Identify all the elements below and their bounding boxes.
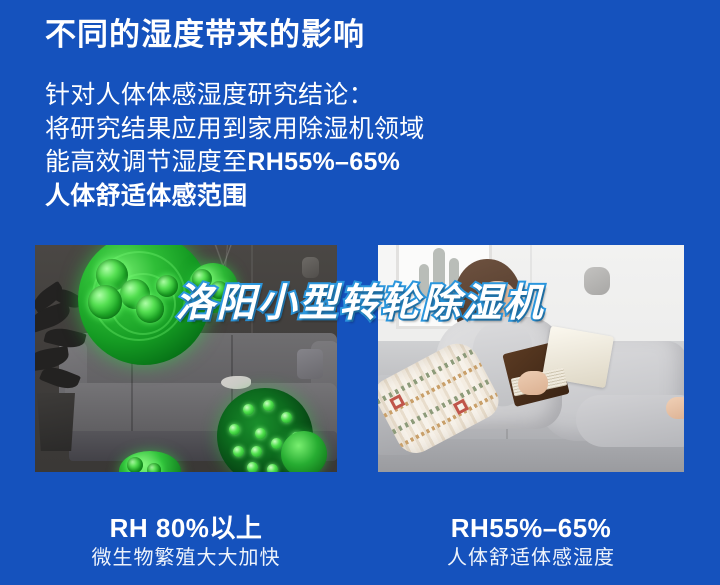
photo-right-comfort-humidity xyxy=(378,245,684,472)
caption-left: RH 80%以上 微生物繁殖大大加快 xyxy=(35,512,337,572)
bird-ornament xyxy=(221,376,251,389)
intro-line-1: 针对人体体感湿度研究结论： xyxy=(45,79,515,113)
woman-hand xyxy=(518,371,548,395)
woman-foot xyxy=(666,397,684,419)
light-room-background xyxy=(378,245,684,472)
caption-left-subtitle: 微生物繁殖大大加快 xyxy=(35,544,337,572)
intro-line-3-normal: 能高效调节湿度至 xyxy=(45,148,247,176)
plant-pot xyxy=(37,393,75,451)
cactus-stem xyxy=(433,248,445,306)
caption-right-subtitle: 人体舒适体感湿度 xyxy=(378,544,684,572)
intro-line-4: 人体舒适体感范围 xyxy=(45,180,515,214)
microbe-sphere-corner xyxy=(281,431,327,472)
intro-line-3-highlight: RH55%–65% xyxy=(247,148,400,176)
page-title: 不同的湿度带来的影响 xyxy=(45,14,365,56)
dark-room-background xyxy=(35,245,337,472)
wall-knob-icon xyxy=(584,267,610,295)
photo-left-high-humidity xyxy=(35,245,337,472)
microbe-cluster-small xyxy=(188,263,238,313)
wall-knob-icon xyxy=(302,257,319,278)
caption-right: RH55%–65% 人体舒适体感湿度 xyxy=(378,512,684,572)
sofa-pillow xyxy=(297,349,323,379)
caption-right-title: RH55%–65% xyxy=(378,512,684,544)
intro-line-3: 能高效调节湿度至RH55%–65% xyxy=(45,146,515,180)
intro-text-block: 针对人体体感湿度研究结论： 将研究结果应用到家用除湿机领域 能高效调节湿度至RH… xyxy=(45,79,515,213)
caption-left-title: RH 80%以上 xyxy=(35,512,337,544)
cactus-stem xyxy=(419,264,429,298)
intro-line-2: 将研究结果应用到家用除湿机领域 xyxy=(45,113,515,147)
